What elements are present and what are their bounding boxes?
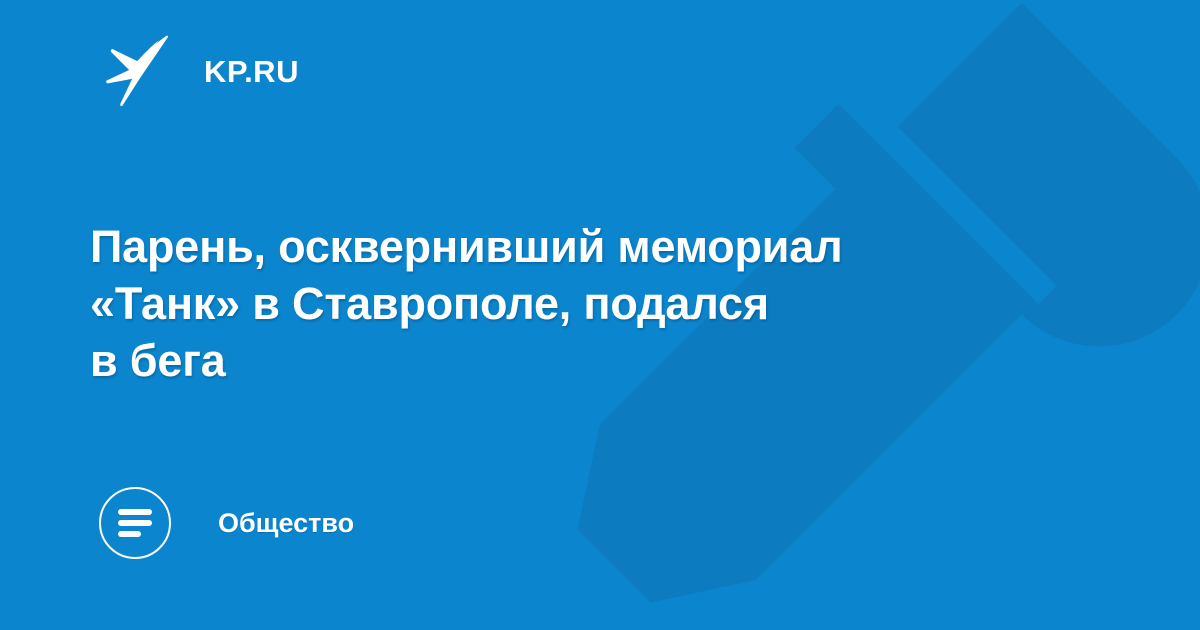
category-label: Общество bbox=[218, 510, 354, 537]
brand-name-label: KP.RU bbox=[204, 56, 299, 87]
menu-line-2 bbox=[118, 520, 152, 526]
menu-line-3 bbox=[118, 531, 141, 537]
menu-line-1 bbox=[118, 509, 152, 515]
site-brand[interactable]: KP.RU bbox=[104, 34, 299, 106]
article-share-card: KP.RU Парень, осквернивший мемориал «Тан… bbox=[0, 0, 1200, 630]
article-headline: Парень, осквернивший мемориал «Танк» в С… bbox=[90, 218, 1090, 389]
hamburger-menu-icon[interactable] bbox=[99, 487, 171, 559]
swallow-bird-icon bbox=[104, 33, 178, 107]
category-badge[interactable]: Общество bbox=[99, 487, 354, 559]
